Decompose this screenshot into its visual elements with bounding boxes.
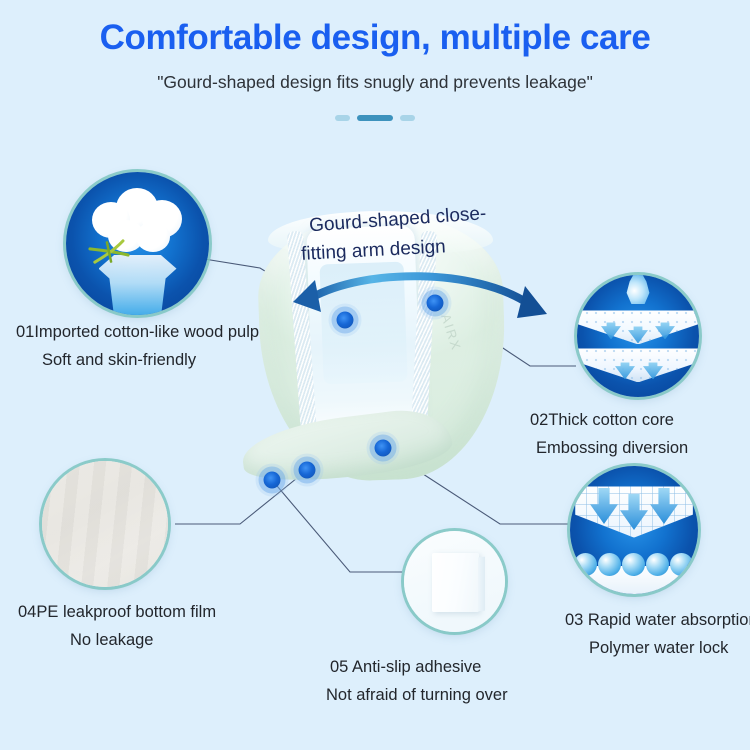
polymer-beads [573,533,696,577]
double-headed-curved-arrow-icon [285,262,555,342]
tape-strip [432,553,478,612]
feature-caption-02: 02Thick cotton core Embossing diversion [530,406,688,462]
feature-circle-05[interactable] [404,531,505,632]
core-layer-bottom [577,348,699,382]
marker-dot-04[interactable] [299,462,316,479]
marker-dot-03[interactable] [375,440,392,457]
feature-04-line2: No leakage [70,626,216,654]
feature-03-line2: Polymer water lock [589,634,750,662]
feature-caption-01: 01Imported cotton-like wood pulp Soft an… [16,318,259,374]
feature-circle-01[interactable] [66,172,209,315]
pe-film-texture-icon [42,461,168,587]
adhesive-tape-icon [404,531,505,632]
marker-dot-05[interactable] [264,472,281,489]
water-drop-icon [623,275,653,306]
feature-circle-03[interactable] [570,466,698,594]
feature-02-line2: Embossing diversion [536,434,688,462]
infographic-canvas: Comfortable design, multiple care "Gourd… [0,0,750,750]
marker-dot-02[interactable] [427,295,444,312]
polymer-beads-absorption-icon [570,466,698,594]
feature-caption-05: 05 Anti-slip adhesive Not afraid of turn… [330,653,508,709]
feature-05-line1: 05 Anti-slip adhesive [330,653,508,681]
feature-04-line1: 04PE leakproof bottom film [18,598,216,626]
core-layers [577,292,699,384]
tshirt-shape [99,255,177,315]
feature-caption-04: 04PE leakproof bottom film No leakage [18,598,216,654]
marker-dot-01[interactable] [337,312,354,329]
feature-01-line2: Soft and skin-friendly [42,346,259,374]
feature-circle-04[interactable] [42,461,168,587]
cotton-boll-icon [66,172,209,315]
feature-02-line1: 02Thick cotton core [530,406,688,434]
feature-caption-03: 03 Rapid water absorption Polymer water … [565,606,750,662]
feature-01-line1: 01Imported cotton-like wood pulp [16,318,259,346]
water-droplet-absorbent-core-icon [577,275,699,397]
feature-03-line1: 03 Rapid water absorption [565,606,750,634]
feature-circle-02[interactable] [577,275,699,397]
feature-05-line2: Not afraid of turning over [326,681,508,709]
